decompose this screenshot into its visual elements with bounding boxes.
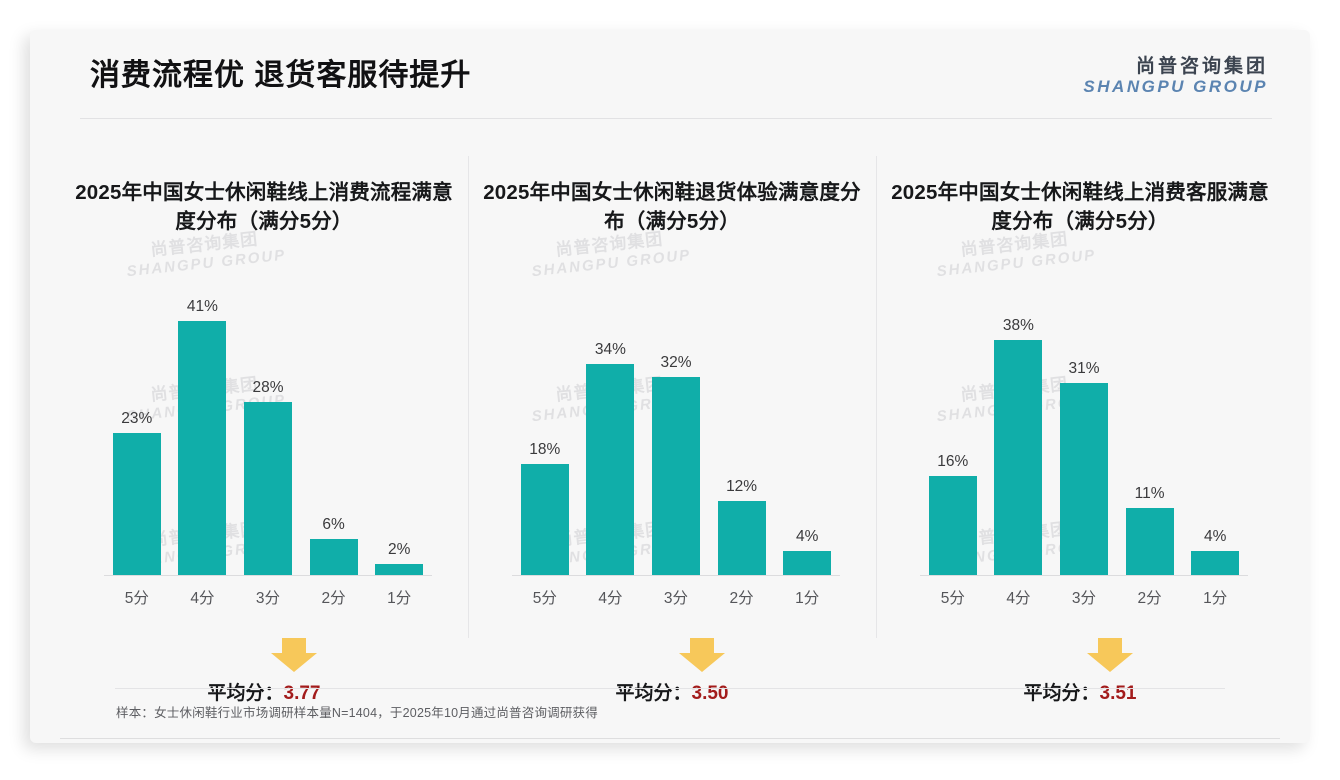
axis-baseline xyxy=(920,575,1248,576)
bar-value-label: 32% xyxy=(660,355,691,371)
bar[interactable] xyxy=(586,364,634,576)
page-title: 消费流程优 退货客服待提升 xyxy=(90,50,471,94)
bar-value-label: 18% xyxy=(529,442,560,458)
bar-plot: 18%34%32%12%4% xyxy=(512,296,840,576)
bar-value-label: 4% xyxy=(796,529,818,545)
bar-group: 23%41%28%6%2% xyxy=(104,296,432,576)
bar-value-label: 28% xyxy=(252,380,283,396)
down-arrow-icon xyxy=(1087,638,1133,672)
average-callout: 平均分：3.77 xyxy=(60,638,468,705)
bar-value-label: 38% xyxy=(1003,318,1034,334)
brand-name-en: SHANGPU GROUP xyxy=(1083,77,1268,96)
x-axis-label: 5分 xyxy=(920,586,986,608)
bar-slot: 31% xyxy=(1051,296,1117,576)
charts-row: 2025年中国女士休闲鞋线上消费流程满意度分布（满分5分） 23%41%28%6… xyxy=(60,148,1284,678)
chart-panel-1: 2025年中国女士休闲鞋线上消费流程满意度分布（满分5分） 23%41%28%6… xyxy=(60,148,468,678)
brand-logo: 尚普咨询集团 SHANGPU GROUP xyxy=(1083,56,1268,96)
bar[interactable] xyxy=(178,321,226,576)
bar[interactable] xyxy=(994,340,1042,576)
slide-header: 消费流程优 退货客服待提升 尚普咨询集团 SHANGPU GROUP xyxy=(30,30,1310,118)
bar-value-label: 2% xyxy=(388,542,410,558)
chart-panel-3: 2025年中国女士休闲鞋线上消费客服满意度分布（满分5分） 16%38%31%1… xyxy=(876,148,1284,678)
bar-value-label: 41% xyxy=(187,299,218,315)
average-value: 3.51 xyxy=(1100,683,1137,704)
bar-slot: 2% xyxy=(366,296,432,576)
bar[interactable] xyxy=(652,377,700,576)
bar-value-label: 4% xyxy=(1204,529,1226,545)
header-divider xyxy=(80,118,1272,119)
bar-slot: 38% xyxy=(986,296,1052,576)
bar-value-label: 12% xyxy=(726,479,757,495)
axis-baseline xyxy=(512,575,840,576)
x-axis-label: 5分 xyxy=(512,586,578,608)
chart-title: 2025年中国女士休闲鞋退货体验满意度分布（满分5分） xyxy=(480,178,864,236)
bar[interactable] xyxy=(113,433,161,576)
bar[interactable] xyxy=(1191,551,1239,576)
average-text: 平均分：3.77 xyxy=(208,678,321,705)
bar[interactable] xyxy=(1126,508,1174,576)
bar-value-label: 16% xyxy=(937,454,968,470)
average-label: 平均分： xyxy=(1024,683,1100,704)
bar[interactable] xyxy=(783,551,831,576)
sample-footnote: 样本：女士休闲鞋行业市场调研样本量N=1404，于2025年10月通过尚普咨询调… xyxy=(116,702,598,721)
bar-group: 16%38%31%11%4% xyxy=(920,296,1248,576)
down-arrow-icon xyxy=(679,638,725,672)
bar-value-label: 11% xyxy=(1135,486,1165,502)
x-axis-label: 5分 xyxy=(104,586,170,608)
bar[interactable] xyxy=(244,402,292,576)
axis-baseline xyxy=(104,575,432,576)
slide-card: 尚普咨询集团SHANGPU GROUP尚普咨询集团SHANGPU GROUP尚普… xyxy=(30,30,1310,743)
chart-panel-2: 2025年中国女士休闲鞋退货体验满意度分布（满分5分） 18%34%32%12%… xyxy=(468,148,876,678)
x-axis-label: 3分 xyxy=(1051,586,1117,608)
bar-slot: 28% xyxy=(235,296,301,576)
bar[interactable] xyxy=(718,501,766,576)
brand-name-cn: 尚普咨询集团 xyxy=(1083,56,1268,77)
chart-title: 2025年中国女士休闲鞋线上消费客服满意度分布（满分5分） xyxy=(888,178,1272,236)
x-axis-label: 2分 xyxy=(709,586,775,608)
bar[interactable] xyxy=(929,476,977,576)
x-axis-label: 2分 xyxy=(1117,586,1183,608)
x-axis-label: 1分 xyxy=(366,586,432,608)
average-value: 3.50 xyxy=(692,683,729,704)
bar[interactable] xyxy=(1060,383,1108,576)
bar-slot: 12% xyxy=(709,296,775,576)
bar-plot: 16%38%31%11%4% xyxy=(920,296,1248,576)
bar-slot: 16% xyxy=(920,296,986,576)
average-label: 平均分： xyxy=(208,683,284,704)
bar-slot: 34% xyxy=(578,296,644,576)
x-axis-label: 4分 xyxy=(986,586,1052,608)
bar-slot: 11% xyxy=(1117,296,1183,576)
down-arrow-icon xyxy=(271,638,317,672)
average-label: 平均分： xyxy=(616,683,692,704)
bar-slot: 32% xyxy=(643,296,709,576)
x-axis-labels: 5分4分3分2分1分 xyxy=(920,586,1248,608)
bar-value-label: 31% xyxy=(1068,361,1099,377)
x-axis-label: 3分 xyxy=(643,586,709,608)
bar[interactable] xyxy=(310,539,358,576)
x-axis-label: 3分 xyxy=(235,586,301,608)
bar-slot: 23% xyxy=(104,296,170,576)
average-text: 平均分：3.50 xyxy=(616,678,729,705)
bar-slot: 18% xyxy=(512,296,578,576)
x-axis-label: 1分 xyxy=(1182,586,1248,608)
x-axis-label: 4分 xyxy=(578,586,644,608)
footer-divider xyxy=(60,738,1280,739)
bar-value-label: 34% xyxy=(595,342,626,358)
bar-value-label: 6% xyxy=(322,517,344,533)
average-value: 3.77 xyxy=(284,683,321,704)
bar-plot: 23%41%28%6%2% xyxy=(104,296,432,576)
chart-title: 2025年中国女士休闲鞋线上消费流程满意度分布（满分5分） xyxy=(72,178,456,236)
bar-value-label: 23% xyxy=(121,411,152,427)
average-callout: 平均分：3.51 xyxy=(876,638,1284,705)
footnote-divider xyxy=(115,688,1225,689)
x-axis-labels: 5分4分3分2分1分 xyxy=(512,586,840,608)
bar-group: 18%34%32%12%4% xyxy=(512,296,840,576)
bar[interactable] xyxy=(521,464,569,576)
x-axis-label: 2分 xyxy=(301,586,367,608)
x-axis-label: 1分 xyxy=(774,586,840,608)
x-axis-labels: 5分4分3分2分1分 xyxy=(104,586,432,608)
average-text: 平均分：3.51 xyxy=(1024,678,1137,705)
bar-slot: 6% xyxy=(301,296,367,576)
bar-slot: 4% xyxy=(1182,296,1248,576)
average-callout: 平均分：3.50 xyxy=(468,638,876,705)
bar-slot: 41% xyxy=(170,296,236,576)
x-axis-label: 4分 xyxy=(170,586,236,608)
bar-slot: 4% xyxy=(774,296,840,576)
